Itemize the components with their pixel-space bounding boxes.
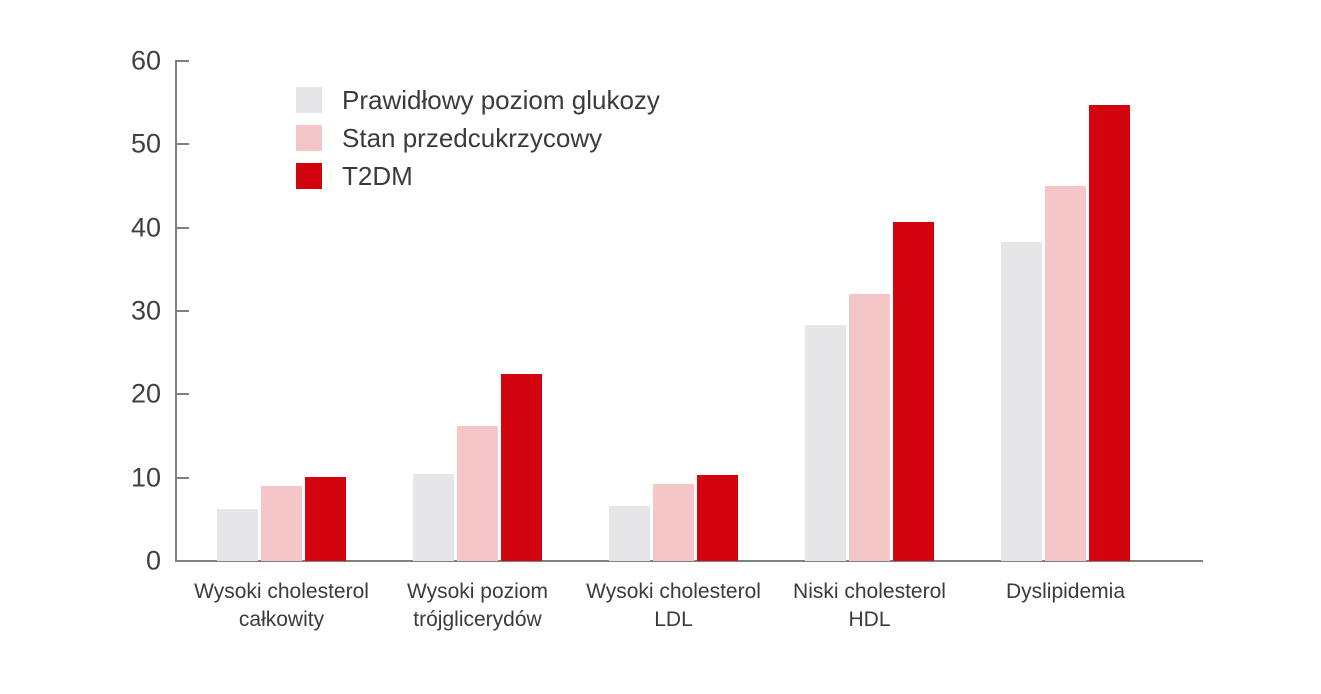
bar-0-1 xyxy=(413,474,454,562)
legend-label-0: Prawidłowy poziom glukozy xyxy=(342,87,660,113)
y-axis-tick-label: 40 xyxy=(101,214,161,241)
legend-item-1[interactable]: Stan przedcukrzycowy xyxy=(296,120,660,156)
bar-1-3 xyxy=(849,294,890,562)
legend: Prawidłowy poziom glukozyStan przedcukrz… xyxy=(296,82,660,196)
bar-2-3 xyxy=(893,222,934,561)
bar-0-2 xyxy=(609,506,650,561)
bar-2-0 xyxy=(305,477,346,561)
legend-swatch-icon-1 xyxy=(296,125,322,151)
bar-0-0 xyxy=(217,509,258,561)
legend-swatch-icon-0 xyxy=(296,87,322,113)
bar-1-1 xyxy=(457,426,498,561)
bar-chart: 0102030405060 Wysoki cholesterol całkowi… xyxy=(0,0,1321,694)
legend-label-2: T2DM xyxy=(342,163,413,189)
bar-0-4 xyxy=(1001,242,1042,561)
bar-1-2 xyxy=(653,484,694,561)
bar-1-0 xyxy=(261,486,302,561)
bar-2-4 xyxy=(1089,105,1130,561)
y-axis-tick-label: 50 xyxy=(101,131,161,158)
y-axis-tick-label: 30 xyxy=(101,298,161,325)
y-axis-tick-label: 10 xyxy=(101,464,161,491)
y-axis-tick-label: 20 xyxy=(101,381,161,408)
y-axis-tick-label: 0 xyxy=(101,548,161,575)
bar-0-3 xyxy=(805,325,846,561)
bar-2-1 xyxy=(501,374,542,562)
legend-label-1: Stan przedcukrzycowy xyxy=(342,125,602,151)
y-axis-tick-label: 60 xyxy=(101,48,161,75)
legend-swatch-icon-2 xyxy=(296,163,322,189)
bar-1-4 xyxy=(1045,186,1086,561)
legend-item-0[interactable]: Prawidłowy poziom glukozy xyxy=(296,82,660,118)
bar-2-2 xyxy=(697,475,738,561)
legend-item-2[interactable]: T2DM xyxy=(296,158,660,194)
x-axis-label-4: Dyslipidemia xyxy=(936,578,1196,606)
